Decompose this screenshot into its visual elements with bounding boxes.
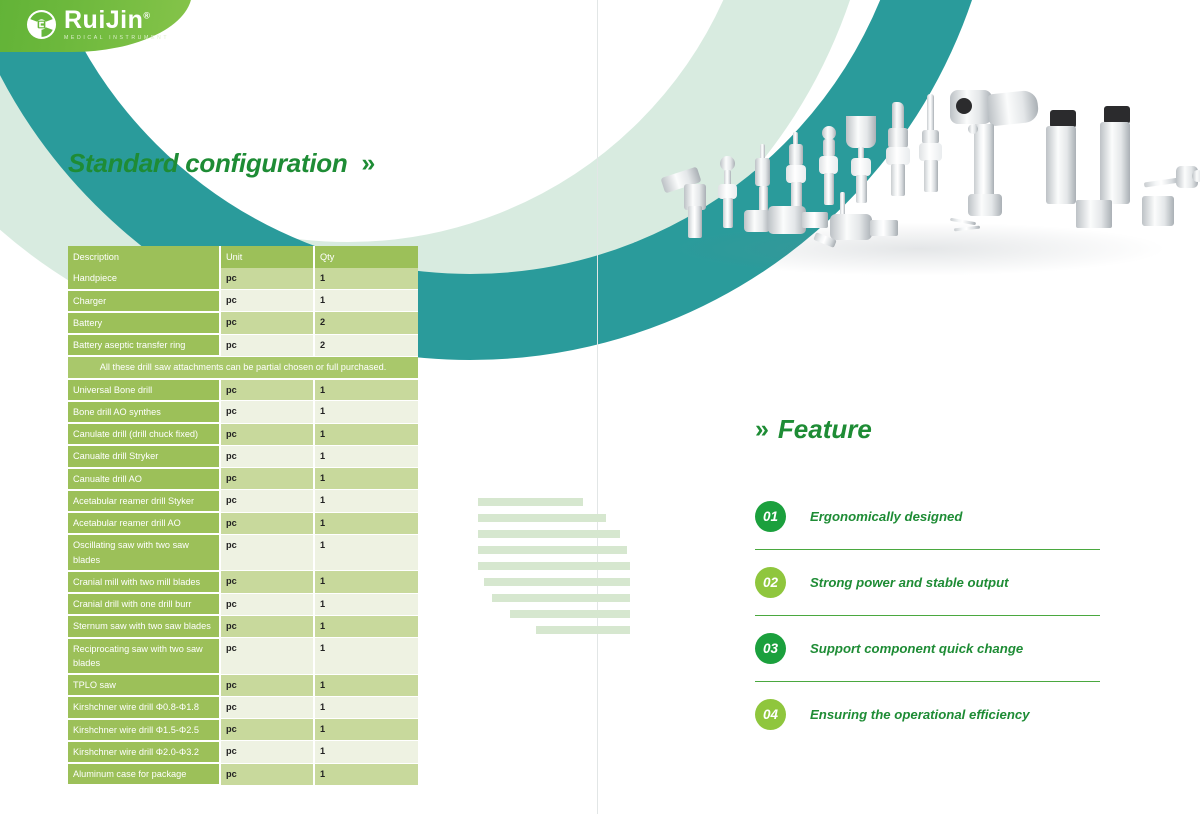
cell-unit: pc (220, 512, 314, 534)
cell-description: Aluminum case for package (68, 763, 220, 785)
feature-list: 01Ergonomically designed02Strong power a… (755, 484, 1100, 747)
table-row: Cranial drill with one drill burrpc1 (68, 593, 418, 615)
cell-unit: pc (220, 615, 314, 637)
cell-unit: pc (220, 719, 314, 741)
standard-configuration-heading: Standard configuration » (68, 148, 370, 179)
cell-description: Kirshchner wire drill Φ0.8-Φ1.8 (68, 696, 220, 718)
aperture-logo-icon (26, 9, 57, 40)
cell-description: Charger (68, 290, 220, 312)
feature-number-badge: 02 (755, 567, 786, 598)
cell-description: Acetabular reamer drill Styker (68, 490, 220, 512)
cell-description: TPLO saw (68, 674, 220, 696)
cell-description: Cranial drill with one drill burr (68, 593, 220, 615)
cell-unit: pc (220, 763, 314, 785)
cell-qty: 1 (314, 512, 418, 534)
table-row: Acetabular reamer drill AOpc1 (68, 512, 418, 534)
table-row: Handpiecepc1 (68, 268, 418, 289)
feature-item[interactable]: 02Strong power and stable output (755, 550, 1100, 616)
table-row: Canulate drill (drill chuck fixed)pc1 (68, 423, 418, 445)
feature-label: Support component quick change (810, 641, 1023, 656)
cell-qty: 1 (314, 468, 418, 490)
table-row: Universal Bone drillpc1 (68, 379, 418, 401)
cell-qty: 1 (314, 763, 418, 785)
cell-qty: 1 (314, 615, 418, 637)
cell-description: Cranial mill with two mill blades (68, 571, 220, 593)
cell-qty: 1 (314, 423, 418, 445)
feature-title-text: Feature (778, 414, 872, 445)
cell-unit: pc (220, 593, 314, 615)
registered-mark: ® (143, 11, 150, 21)
cell-qty: 1 (314, 741, 418, 763)
cell-unit: pc (220, 290, 314, 312)
feature-item[interactable]: 03Support component quick change (755, 616, 1100, 682)
cell-unit: pc (220, 401, 314, 423)
table-row: Oscillating saw with two saw bladespc1 (68, 534, 418, 571)
table-row: Sternum saw with two saw bladespc1 (68, 615, 418, 637)
cell-unit: pc (220, 334, 314, 356)
striped-decoration (478, 498, 630, 638)
feature-number-badge: 03 (755, 633, 786, 664)
cell-description: Battery (68, 312, 220, 334)
table-row: Bone drill AO synthespc1 (68, 401, 418, 423)
cell-unit: pc (220, 445, 314, 467)
cell-unit: pc (220, 490, 314, 512)
cell-description: Canualte drill AO (68, 468, 220, 490)
table-row: TPLO sawpc1 (68, 674, 418, 696)
cell-unit: pc (220, 571, 314, 593)
cell-qty: 1 (314, 490, 418, 512)
cell-unit: pc (220, 534, 314, 571)
feature-item[interactable]: 04Ensuring the operational efficiency (755, 682, 1100, 747)
table-row: Canualte drill AOpc1 (68, 468, 418, 490)
table-body: Handpiecepc1Chargerpc1Batterypc2Battery … (68, 268, 418, 785)
cell-description: Bone drill AO synthes (68, 401, 220, 423)
cell-unit: pc (220, 379, 314, 401)
table-row: Kirshchner wire drill Φ0.8-Φ1.8pc1 (68, 696, 418, 718)
cell-description: Sternum saw with two saw blades (68, 615, 220, 637)
brand-tagline: MEDICAL INSTRUMENT (64, 36, 169, 41)
section-title-text: Standard configuration (68, 148, 347, 179)
cell-unit: pc (220, 638, 314, 675)
table-row: Reciprocating saw with two saw bladespc1 (68, 638, 418, 675)
table-header-row: Description Unit Qty (68, 246, 418, 268)
column-header-description: Description (68, 246, 220, 268)
cell-qty: 1 (314, 534, 418, 571)
cell-qty: 1 (314, 696, 418, 718)
cell-description: Universal Bone drill (68, 379, 220, 401)
double-chevron-right-icon: » (361, 149, 370, 178)
table-row: Battery aseptic transfer ringpc2 (68, 334, 418, 356)
cell-qty: 1 (314, 379, 418, 401)
table-note-text: All these drill saw attachments can be p… (68, 356, 418, 378)
cell-description: Reciprocating saw with two saw blades (68, 638, 220, 675)
cell-unit: pc (220, 674, 314, 696)
feature-label: Ensuring the operational efficiency (810, 707, 1030, 722)
column-header-unit: Unit (220, 246, 314, 268)
table-row: Cranial mill with two mill bladespc1 (68, 571, 418, 593)
cell-qty: 1 (314, 445, 418, 467)
cell-unit: pc (220, 312, 314, 334)
cell-qty: 1 (314, 674, 418, 696)
feature-label: Ergonomically designed (810, 509, 962, 524)
cell-qty: 2 (314, 334, 418, 356)
cell-description: Acetabular reamer drill AO (68, 512, 220, 534)
table-row: Chargerpc1 (68, 290, 418, 312)
cell-qty: 1 (314, 268, 418, 289)
table-row: Batterypc2 (68, 312, 418, 334)
brand-logo[interactable]: RuiJin® MEDICAL INSTRUMENT (26, 8, 169, 41)
column-header-qty: Qty (314, 246, 418, 268)
cell-unit: pc (220, 741, 314, 763)
table-row: Acetabular reamer drill Stykerpc1 (68, 490, 418, 512)
cell-unit: pc (220, 696, 314, 718)
feature-label: Strong power and stable output (810, 575, 1009, 590)
cell-description: Canualte drill Stryker (68, 445, 220, 467)
cell-unit: pc (220, 468, 314, 490)
brand-name: RuiJin (64, 6, 143, 34)
cell-description: Battery aseptic transfer ring (68, 334, 220, 356)
table-row: Kirshchner wire drill Φ1.5-Φ2.5pc1 (68, 719, 418, 741)
cell-qty: 1 (314, 719, 418, 741)
cell-qty: 1 (314, 571, 418, 593)
feature-number-badge: 01 (755, 501, 786, 532)
double-chevron-right-icon: » (755, 415, 764, 444)
feature-number-badge: 04 (755, 699, 786, 730)
standard-configuration-table: Description Unit Qty Handpiecepc1Charger… (68, 246, 418, 786)
product-photo (648, 72, 1200, 287)
cell-unit: pc (220, 423, 314, 445)
table-note-row: All these drill saw attachments can be p… (68, 356, 418, 378)
cell-unit: pc (220, 268, 314, 289)
vertical-divider-line (597, 0, 598, 814)
feature-heading: » Feature (755, 414, 872, 445)
cell-qty: 2 (314, 312, 418, 334)
cell-description: Kirshchner wire drill Φ1.5-Φ2.5 (68, 719, 220, 741)
cell-qty: 1 (314, 638, 418, 675)
table-row: Aluminum case for packagepc1 (68, 763, 418, 785)
cell-description: Kirshchner wire drill Φ2.0-Φ3.2 (68, 741, 220, 763)
feature-item[interactable]: 01Ergonomically designed (755, 484, 1100, 550)
cell-description: Handpiece (68, 268, 220, 289)
table-row: Canualte drill Strykerpc1 (68, 445, 418, 467)
table-row: Kirshchner wire drill Φ2.0-Φ3.2pc1 (68, 741, 418, 763)
cell-description: Oscillating saw with two saw blades (68, 534, 220, 571)
cell-description: Canulate drill (drill chuck fixed) (68, 423, 220, 445)
cell-qty: 1 (314, 290, 418, 312)
cell-qty: 1 (314, 401, 418, 423)
cell-qty: 1 (314, 593, 418, 615)
